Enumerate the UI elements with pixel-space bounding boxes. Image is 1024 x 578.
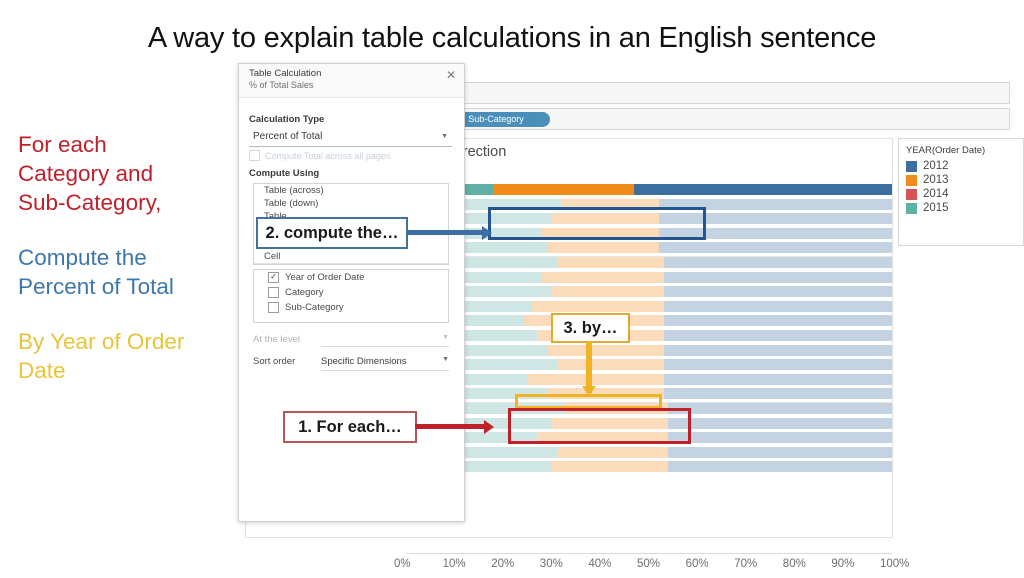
color-legend[interactable]: YEAR(Order Date) 2012201320142015 <box>898 138 1024 246</box>
callout-1-arrow <box>415 424 490 429</box>
stacked-bar <box>406 315 892 326</box>
bar-segment-2013 <box>557 359 664 370</box>
axis-tick: 100% <box>880 558 909 570</box>
callout-2-arrow <box>406 230 488 235</box>
bar-segment-2013 <box>532 301 663 312</box>
stacked-bar <box>406 301 892 312</box>
compute-total-across-pages-label: Compute Total across all pages <box>265 151 390 161</box>
axis-tick: 20% <box>491 558 514 570</box>
bar-segment-2013 <box>547 345 664 356</box>
calculation-type-select[interactable]: Percent of Total ▼ <box>249 128 452 147</box>
bar-segment-2013 <box>542 272 664 283</box>
bar-segment-2012 <box>668 418 892 429</box>
axis-tick: 10% <box>443 558 466 570</box>
sort-order-value: Specific Dimensions <box>321 356 407 367</box>
bar-segment-2012 <box>664 359 892 370</box>
legend-swatch <box>906 189 917 200</box>
dialog-title: Table Calculation <box>249 68 321 79</box>
axis-tick: 60% <box>686 558 709 570</box>
legend-label: 2012 <box>923 160 949 172</box>
dimension-label: Category <box>285 287 324 298</box>
at-the-level-field[interactable] <box>321 345 449 347</box>
legend-title: YEAR(Order Date) <box>906 145 1023 156</box>
stacked-bar <box>406 330 892 341</box>
compute-using-option[interactable]: Table (across) <box>254 184 448 197</box>
bar-segment-2012 <box>664 388 892 399</box>
bar-segment-2012 <box>659 242 892 253</box>
legend-label: 2015 <box>923 202 949 214</box>
narration-block-2: Compute thePercent of Total <box>18 243 240 301</box>
bar-segment-2012 <box>664 315 892 326</box>
highlight-calculation-type <box>488 207 706 240</box>
stacked-bar <box>406 184 892 195</box>
bar-segment-2012 <box>664 330 892 341</box>
close-icon[interactable]: ✕ <box>446 68 456 82</box>
dialog-header: Table Calculation % of Total Sales ✕ <box>239 64 464 98</box>
bar-segment-2012 <box>664 272 892 283</box>
legend-swatch <box>906 175 917 186</box>
bar-segment-2012 <box>664 301 892 312</box>
legend-items: 2012201320142015 <box>899 160 1023 214</box>
callout-3: 3. by… <box>551 313 630 343</box>
legend-item[interactable]: 2015 <box>906 202 1023 214</box>
bar-segment-2012 <box>664 345 892 356</box>
narration-line: For each <box>18 130 240 159</box>
narration-block-3: By Year of OrderDate <box>18 327 240 385</box>
bar-segment-2013 <box>557 447 669 458</box>
bar-segment-2013 <box>528 374 664 385</box>
bar-segment-2012 <box>664 286 892 297</box>
legend-label: 2013 <box>923 174 949 186</box>
narration-line: Percent of Total <box>18 272 240 301</box>
narration-line: By Year of Order <box>18 327 240 356</box>
callout-1: 1. For each… <box>283 411 417 443</box>
dialog-subtitle: % of Total Sales <box>249 80 313 90</box>
bar-segment-2012 <box>668 461 892 472</box>
bar-segment-2013 <box>552 461 669 472</box>
specific-dimensions-list[interactable]: ✓Year of Order DateCategorySub-Category <box>253 269 449 323</box>
stacked-bar <box>406 359 892 370</box>
callout-2-arrowhead <box>482 226 492 240</box>
legend-swatch <box>906 203 917 214</box>
x-axis: 0%10%20%30%40%50%60%70%80%90%100% <box>246 558 892 578</box>
narration-line: Category and <box>18 159 240 188</box>
at-the-level-label: At the level <box>253 334 300 345</box>
bar-segment-2013 <box>547 242 659 253</box>
axis-tick: 30% <box>540 558 563 570</box>
calculation-type-label: Calculation Type <box>249 114 324 125</box>
bar-segment-2012 <box>668 403 892 414</box>
axis-tick: 50% <box>637 558 660 570</box>
highlight-dimensions <box>508 408 691 444</box>
bar-segment-2013 <box>493 184 634 195</box>
highlight-year-of-order-date <box>515 394 662 409</box>
bar-segment-2012 <box>634 184 892 195</box>
stacked-bar <box>406 242 892 253</box>
narration-line: Compute the <box>18 243 240 272</box>
bar-segment-2013 <box>552 286 664 297</box>
checkbox-box[interactable] <box>268 302 279 313</box>
axis-tick: 80% <box>783 558 806 570</box>
stacked-bar <box>406 374 892 385</box>
bar-segment-2012 <box>664 257 892 268</box>
narration-block-1: For eachCategory andSub-Category, <box>18 130 240 217</box>
checkbox-box <box>249 150 260 161</box>
compute-using-option[interactable]: Cell <box>254 250 448 263</box>
sort-order-field[interactable] <box>321 369 449 371</box>
axis-tick: 90% <box>831 558 854 570</box>
legend-swatch <box>906 161 917 172</box>
page-title: A way to explain table calculations in a… <box>0 22 1024 55</box>
checkbox-box[interactable]: ✓ <box>268 272 279 283</box>
table-calculation-dialog: Table Calculation % of Total Sales ✕ Cal… <box>238 63 465 522</box>
stacked-bar <box>406 286 892 297</box>
narration-line: Date <box>18 356 240 385</box>
bar-segment-2012 <box>664 374 892 385</box>
stacked-bar <box>406 447 892 458</box>
narration-panel: For eachCategory andSub-Category,Compute… <box>18 130 240 411</box>
axis-tick: 0% <box>394 558 411 570</box>
chevron-down-icon: ▼ <box>442 356 449 363</box>
stacked-bar <box>406 272 892 283</box>
dimension-label: Sub-Category <box>285 302 344 313</box>
narration-line: Sub-Category, <box>18 188 240 217</box>
bar-segment-2013 <box>557 257 664 268</box>
stacked-bar <box>406 257 892 268</box>
legend-item[interactable]: 2012 <box>906 160 1023 172</box>
stacked-bar <box>406 345 892 356</box>
compute-using-label: Compute Using <box>249 168 319 179</box>
dimension-checkbox[interactable]: ✓Year of Order Date <box>254 270 448 285</box>
legend-item[interactable]: 2014 <box>906 188 1023 200</box>
sort-order-label: Sort order <box>253 356 295 367</box>
axis-tick: 70% <box>734 558 757 570</box>
callout-1-arrowhead <box>484 420 494 434</box>
calculation-type-value: Percent of Total <box>253 131 322 142</box>
dimension-checkbox[interactable]: Category <box>254 285 448 300</box>
checkbox-box[interactable] <box>268 287 279 298</box>
compute-using-option[interactable]: Specific Dimensions <box>254 263 448 265</box>
compute-using-option[interactable]: Table (down) <box>254 197 448 210</box>
stacked-bar <box>406 461 892 472</box>
callout-2: 2. compute the… <box>256 217 408 249</box>
axis-tick: 40% <box>588 558 611 570</box>
bar-segment-2012 <box>668 432 892 443</box>
dimension-checkbox[interactable]: Sub-Category <box>254 300 448 315</box>
chevron-down-icon: ▼ <box>441 133 448 140</box>
axis-line <box>406 553 892 554</box>
legend-label: 2014 <box>923 188 949 200</box>
chevron-down-icon: ▼ <box>442 334 449 341</box>
bar-segment-2012 <box>668 447 892 458</box>
callout-3-arrowhead <box>582 386 596 396</box>
compute-total-across-pages-checkbox[interactable]: Compute Total across all pages <box>249 150 390 161</box>
dimension-label: Year of Order Date <box>285 272 364 283</box>
legend-item[interactable]: 2013 <box>906 174 1023 186</box>
